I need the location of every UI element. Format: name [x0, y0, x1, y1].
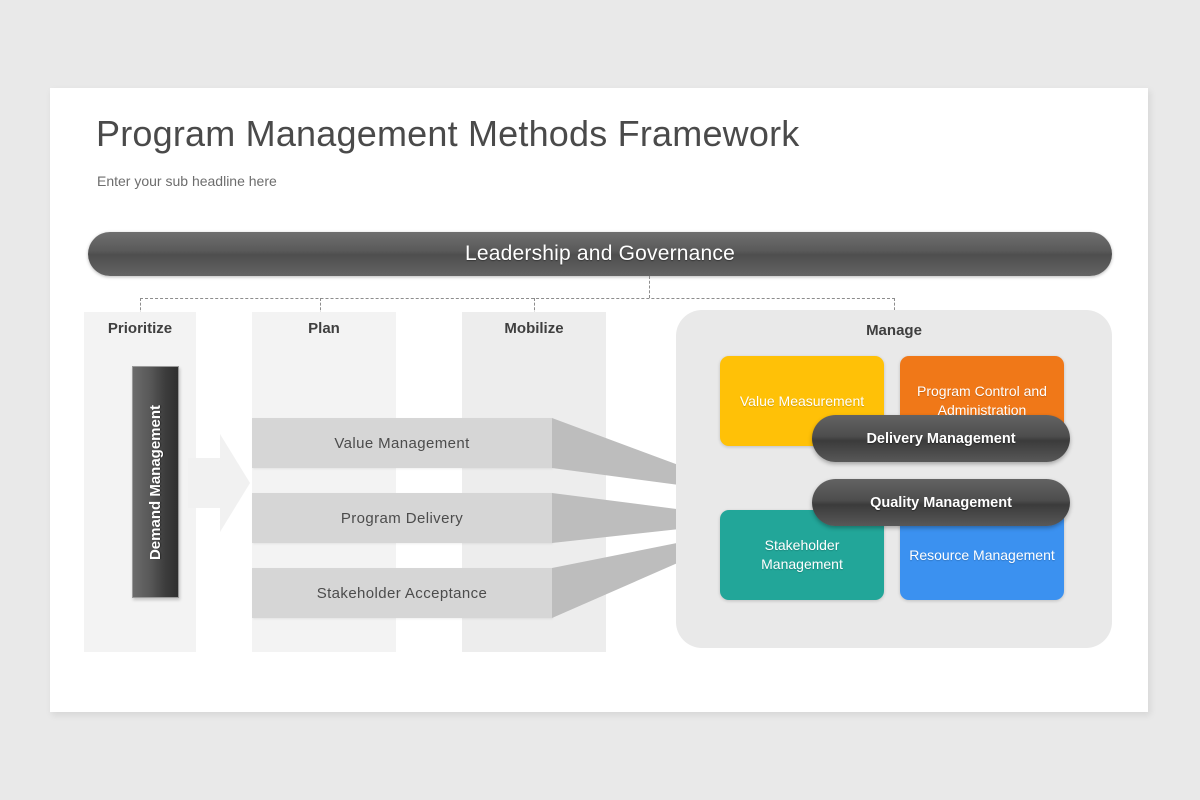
- column-title-manage: Manage: [676, 322, 1112, 339]
- flow-band-body: Stakeholder Acceptance: [252, 568, 552, 618]
- demand-management-label: Demand Management: [147, 404, 164, 559]
- pill-delivery-management[interactable]: Delivery Management: [812, 415, 1070, 462]
- demand-management-bar[interactable]: Demand Management: [132, 366, 179, 598]
- card-label: Stakeholder Management: [720, 536, 884, 574]
- flow-band-body: Program Delivery: [252, 493, 552, 543]
- connector-banner-stem: [649, 276, 650, 298]
- leadership-banner-label: Leadership and Governance: [465, 242, 735, 266]
- card-label: Value Measurement: [734, 392, 870, 411]
- flow-band-label: Stakeholder Acceptance: [317, 585, 488, 602]
- manage-panel: Manage Value Measurement Program Control…: [676, 310, 1112, 648]
- page-title: Program Management Methods Framework: [96, 113, 799, 155]
- leadership-banner[interactable]: Leadership and Governance: [88, 232, 1112, 276]
- slide-canvas: Program Management Methods Framework Ent…: [50, 88, 1148, 712]
- column-title-plan: Plan: [252, 320, 396, 337]
- pill-quality-management[interactable]: Quality Management: [812, 479, 1070, 526]
- pill-label: Quality Management: [870, 495, 1012, 511]
- column-title-mobilize: Mobilize: [462, 320, 606, 337]
- flow-arrow-icon: [188, 428, 250, 538]
- flow-band-body: Value Management: [252, 418, 552, 468]
- column-title-prioritize: Prioritize: [84, 320, 196, 337]
- pill-label: Delivery Management: [866, 431, 1015, 447]
- page-subtitle: Enter your sub headline here: [97, 173, 277, 189]
- card-label: Resource Management: [903, 546, 1061, 565]
- flow-band-label: Value Management: [334, 435, 469, 452]
- connector-horizontal-bus: [140, 298, 895, 299]
- flow-band-label: Program Delivery: [341, 510, 463, 527]
